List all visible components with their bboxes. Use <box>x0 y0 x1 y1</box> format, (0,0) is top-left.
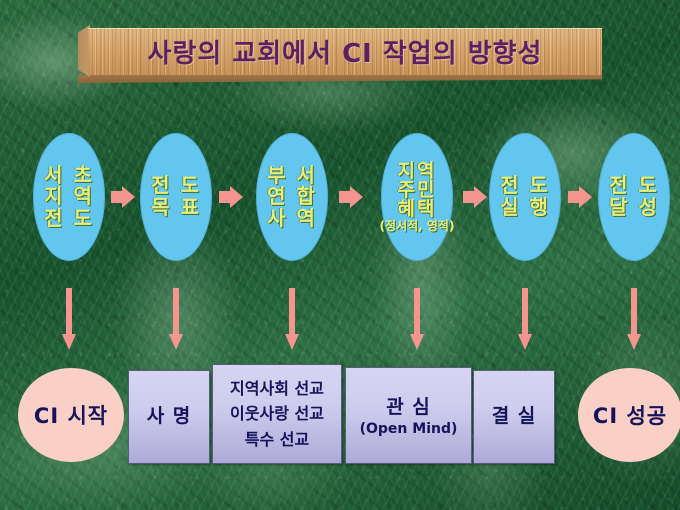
flow-oval-department-union-ministry[interactable]: 부 서 연 합 사 역 <box>256 133 328 261</box>
oval-line: 부 서 <box>267 165 317 187</box>
down-arrow <box>62 288 76 350</box>
banner-face: 사랑의 교회에서 CI 작업의 방향성 <box>88 28 602 75</box>
oval-line: 목 표 <box>151 197 201 219</box>
result-box-mission[interactable]: 사 명 <box>128 370 210 464</box>
arrow-head-icon <box>410 334 424 350</box>
box-line: 이웃사랑 선교 <box>230 401 324 427</box>
circle-label: CI 시작 <box>34 400 108 430</box>
arrow-shaft <box>414 288 420 336</box>
oval-line: 서 초 <box>44 165 94 187</box>
oval-line: 혜택 <box>398 200 437 219</box>
down-arrow <box>285 288 299 350</box>
oval-line: 전 도 <box>44 208 94 230</box>
oval-line: 전 도 <box>609 175 659 197</box>
arrow-shaft <box>289 288 295 336</box>
arrow-head-icon <box>627 334 641 350</box>
title-banner: 사랑의 교회에서 CI 작업의 방향성 <box>78 25 602 77</box>
oval-line: 전 도 <box>500 175 550 197</box>
oval-line: 지 역 <box>44 186 94 208</box>
oval-line: 전 도 <box>151 175 201 197</box>
flow-arrow-right <box>219 186 243 208</box>
oval-line: 달 성 <box>609 197 659 219</box>
down-arrow <box>627 288 641 350</box>
box-line-english: (Open Mind) <box>360 421 458 437</box>
flow-oval-seocho-evangelism[interactable]: 서 초 지 역 전 도 <box>33 133 105 261</box>
arrow-head-icon <box>350 186 363 208</box>
arrow-head-icon <box>62 334 76 350</box>
result-box-fruit[interactable]: 결 실 <box>473 370 555 464</box>
box-line: 관 심 <box>386 394 431 422</box>
circle-label: CI 성공 <box>593 400 667 430</box>
oval-line: 연 합 <box>267 186 317 208</box>
flow-arrow-right <box>463 186 487 208</box>
arrow-head-icon <box>474 186 487 208</box>
page-title: 사랑의 교회에서 CI 작업의 방향성 <box>148 33 543 70</box>
arrow-head-icon <box>122 186 135 208</box>
result-box-open-mind[interactable]: 관 심 (Open Mind) <box>345 367 472 464</box>
arrow-head-icon <box>230 186 243 208</box>
box-line: 사 명 <box>147 403 192 431</box>
box-line: 지역사회 선교 <box>230 376 324 402</box>
slide-canvas: 사랑의 교회에서 CI 작업의 방향성 서 초 지 역 전 도 전 도 목 표 … <box>0 0 680 510</box>
box-line: 결 실 <box>492 403 537 431</box>
down-arrow <box>518 288 532 350</box>
flow-oval-evangelism-goal[interactable]: 전 도 목 표 <box>140 133 212 261</box>
arrow-shaft <box>66 288 72 336</box>
result-box-missions-list[interactable]: 지역사회 선교 이웃사랑 선교 특수 선교 <box>212 364 342 464</box>
flow-oval-evangelism-execution[interactable]: 전 도 실 행 <box>489 133 561 261</box>
arrow-shaft <box>173 288 179 336</box>
down-arrow <box>410 288 424 350</box>
arrow-head-icon <box>169 334 183 350</box>
flow-oval-local-resident-benefit[interactable]: 지역 주민 혜택 (정서적, 영적) <box>381 133 453 261</box>
box-line: 특수 선교 <box>245 427 309 453</box>
flow-arrow-right <box>339 186 363 208</box>
oval-line: 실 행 <box>500 197 550 219</box>
arrow-head-icon <box>518 334 532 350</box>
result-circle-ci-start[interactable]: CI 시작 <box>18 368 124 462</box>
oval-line: 사 역 <box>267 208 317 230</box>
flow-arrow-right <box>568 186 592 208</box>
flow-arrow-right <box>111 186 135 208</box>
result-circle-ci-success[interactable]: CI 성공 <box>578 368 680 462</box>
down-arrow <box>169 288 183 350</box>
arrow-head-icon <box>285 334 299 350</box>
arrow-shaft <box>522 288 528 336</box>
flow-oval-evangelism-achievement[interactable]: 전 도 달 성 <box>598 133 670 261</box>
oval-subtext: (정서적, 영적) <box>380 220 455 232</box>
arrow-head-icon <box>579 186 592 208</box>
arrow-shaft <box>631 288 637 336</box>
